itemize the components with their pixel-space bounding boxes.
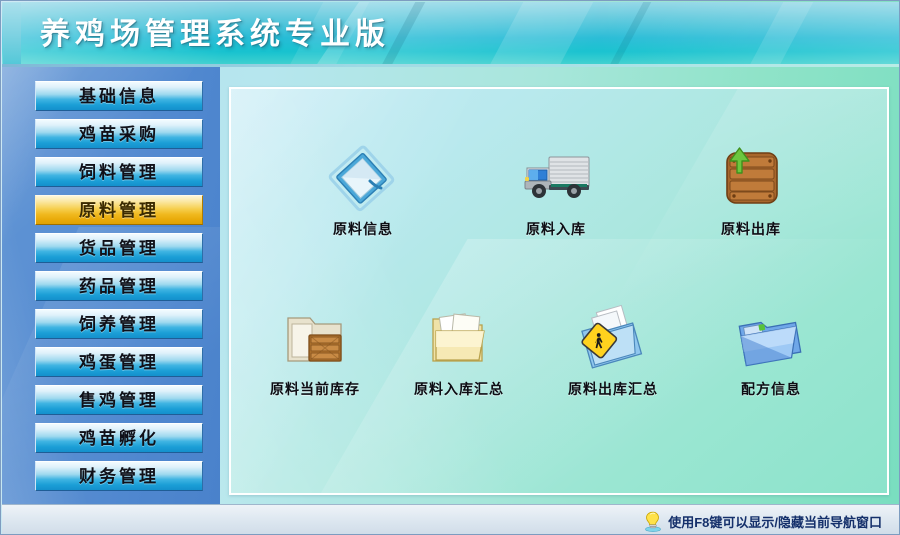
nav-icon-label: 原料入库汇总 [389,379,529,399]
nav-icon-1[interactable]: 原料信息 [293,141,433,239]
nav-icon-5[interactable]: 原料入库汇总 [389,301,529,399]
nav-icon-label: 原料信息 [293,219,433,239]
sidebar-item-5[interactable]: 货品管理 [35,233,203,263]
folder-documents-yellow-icon [422,301,496,375]
sidebar-item-11[interactable]: 财务管理 [35,461,203,491]
status-bar: 使用F8键可以显示/隐藏当前导航窗口 [2,504,900,535]
navigation-sidebar: 基础信息鸡苗采购饲料管理原料管理货品管理药品管理饲养管理鸡蛋管理售鸡管理鸡苗孵化… [2,67,220,504]
nav-icon-2[interactable]: 原料入库 [486,141,626,239]
page-title: 养鸡场管理系统专业版 [40,20,390,50]
sidebar-item-9[interactable]: 售鸡管理 [35,385,203,415]
delivery-truck-icon [519,141,593,215]
lightbulb-icon [644,511,662,531]
sidebar-item-3[interactable]: 饲料管理 [35,157,203,187]
nav-icon-label: 原料出库 [681,219,821,239]
nav-icon-label: 原料入库 [486,219,626,239]
sidebar-item-1[interactable]: 基础信息 [35,81,203,111]
title-banner: 养鸡场管理系统专业版 [2,2,900,64]
status-hint-text: 使用F8键可以显示/隐藏当前导航窗口 [668,512,882,531]
folder-open-blue-icon [734,301,808,375]
folder-crate-icon [278,301,352,375]
nav-icon-label: 原料出库汇总 [543,379,683,399]
folder-pedestrian-sign-icon [576,301,650,375]
nav-icon-label: 原料当前库存 [245,379,385,399]
sidebar-item-4[interactable]: 原料管理 [35,195,203,225]
sidebar-item-6[interactable]: 药品管理 [35,271,203,301]
crate-up-arrow-icon [714,141,788,215]
sidebar-item-7[interactable]: 饲养管理 [35,309,203,339]
nav-icon-label: 配方信息 [701,379,841,399]
status-hint: 使用F8键可以显示/隐藏当前导航窗口 [644,510,882,532]
application-window: 养鸡场管理系统专业版 基础信息鸡苗采购饲料管理原料管理货品管理药品管理饲养管理鸡… [0,0,900,535]
sidebar-item-2[interactable]: 鸡苗采购 [35,119,203,149]
nav-icon-6[interactable]: 原料出库汇总 [543,301,683,399]
sidebar-item-10[interactable]: 鸡苗孵化 [35,423,203,453]
banner-left-edge [3,3,21,64]
sidebar-item-8[interactable]: 鸡蛋管理 [35,347,203,377]
diamond-document-icon [326,141,400,215]
nav-icon-4[interactable]: 原料当前库存 [245,301,385,399]
navigation-content-panel: 原料信息 原料入库 [229,87,889,495]
nav-icon-7[interactable]: 配方信息 [701,301,841,399]
nav-icon-3[interactable]: 原料出库 [681,141,821,239]
